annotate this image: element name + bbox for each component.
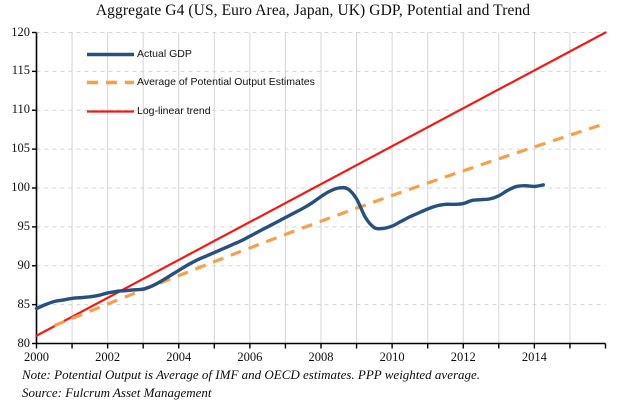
footnote-source: Source: Fulcrum Asset Management [22, 385, 212, 401]
x-tick-label: 2010 [372, 350, 412, 365]
legend-item-actual-gdp: Actual GDP [137, 48, 192, 60]
axis-ticks [32, 33, 606, 349]
footnote-note: Note: Potential Output is Average of IMF… [22, 367, 480, 383]
x-tick-label: 2004 [159, 350, 199, 365]
x-tick-label: 2006 [230, 350, 270, 365]
y-tick-label: 95 [2, 219, 30, 234]
x-tick-label: 2008 [301, 350, 341, 365]
y-tick-label: 90 [2, 258, 30, 273]
x-tick-label: 2002 [88, 350, 128, 365]
series-actual-gdp [37, 185, 544, 309]
y-tick-label: 85 [2, 297, 30, 312]
x-tick-label: 2012 [443, 350, 483, 365]
series-average-potential-output [54, 123, 605, 325]
y-tick-label: 105 [2, 141, 30, 156]
legend-item-average-potential-output: Average of Potential Output Estimates [137, 76, 315, 88]
y-tick-label: 120 [2, 25, 30, 40]
y-tick-label: 100 [2, 180, 30, 195]
x-tick-label: 2014 [514, 350, 554, 365]
y-tick-label: 115 [2, 63, 30, 78]
legend-markers [87, 55, 134, 112]
y-tick-label: 80 [2, 336, 30, 351]
chart-container: Aggregate G4 (US, Euro Area, Japan, UK) … [0, 0, 626, 412]
x-tick-label: 2000 [17, 350, 57, 365]
legend-item-log-linear-trend: Log-linear trend [137, 105, 211, 117]
y-tick-label: 110 [2, 102, 30, 117]
